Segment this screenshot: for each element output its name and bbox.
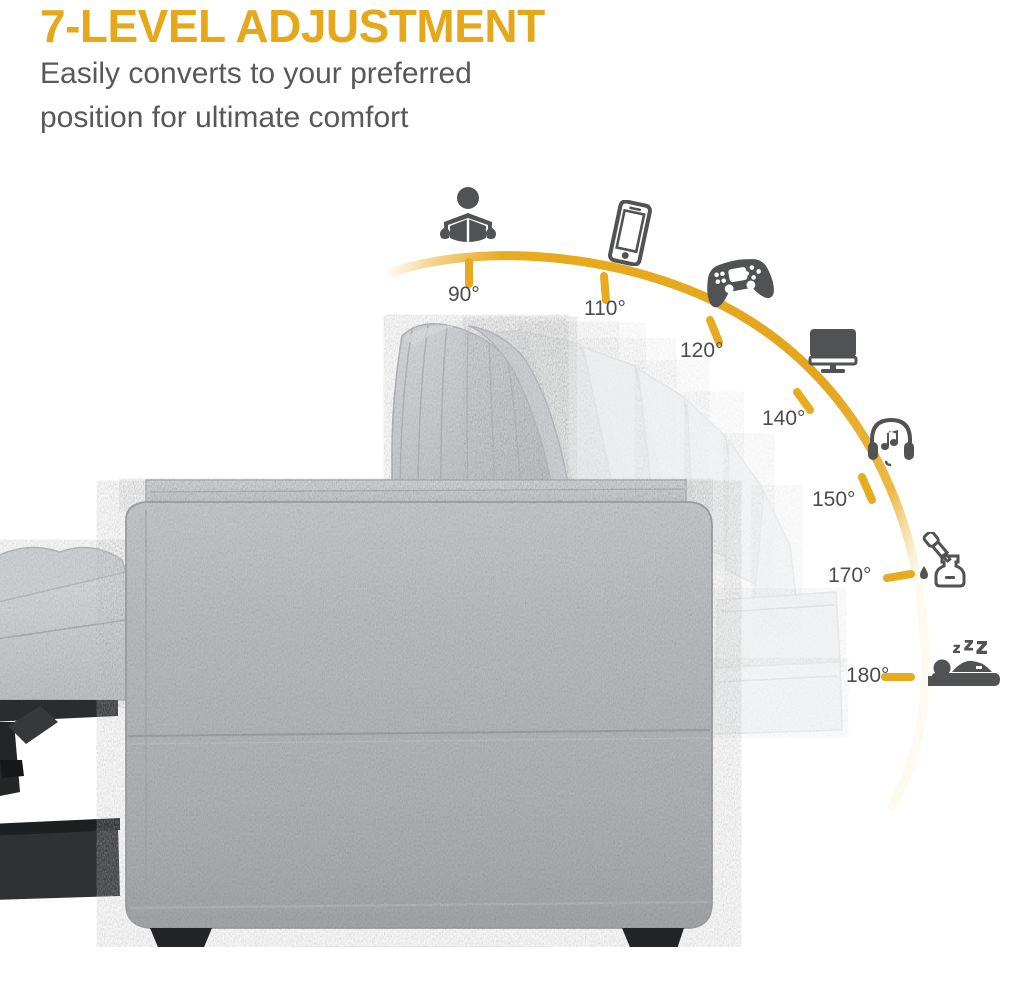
game-controller-icon [703, 254, 775, 308]
angle-label-150: 150° [812, 488, 855, 512]
angle-ticks [469, 262, 911, 677]
angle-label-110: 110° [584, 297, 626, 321]
angle-label-140: 140° [762, 407, 805, 431]
angle-label-90: 90° [448, 283, 480, 307]
dropper-bottle-icon [912, 532, 968, 588]
diagram-stage: 90° 110° 120° 140° 150° 170° 180° [0, 0, 1024, 981]
angle-label-170: 170° [828, 564, 871, 588]
person-sleeping-icon [928, 640, 1002, 696]
angle-label-120: 120° [680, 339, 723, 363]
person-reading-icon [437, 186, 499, 246]
angle-label-180: 180° [846, 664, 889, 688]
smartphone-icon [604, 200, 656, 266]
headphones-music-icon [866, 417, 916, 467]
monitor-tv-icon [808, 328, 858, 374]
recline-angle-arc [0, 0, 1024, 981]
bottom-floor-band [0, 947, 1024, 981]
